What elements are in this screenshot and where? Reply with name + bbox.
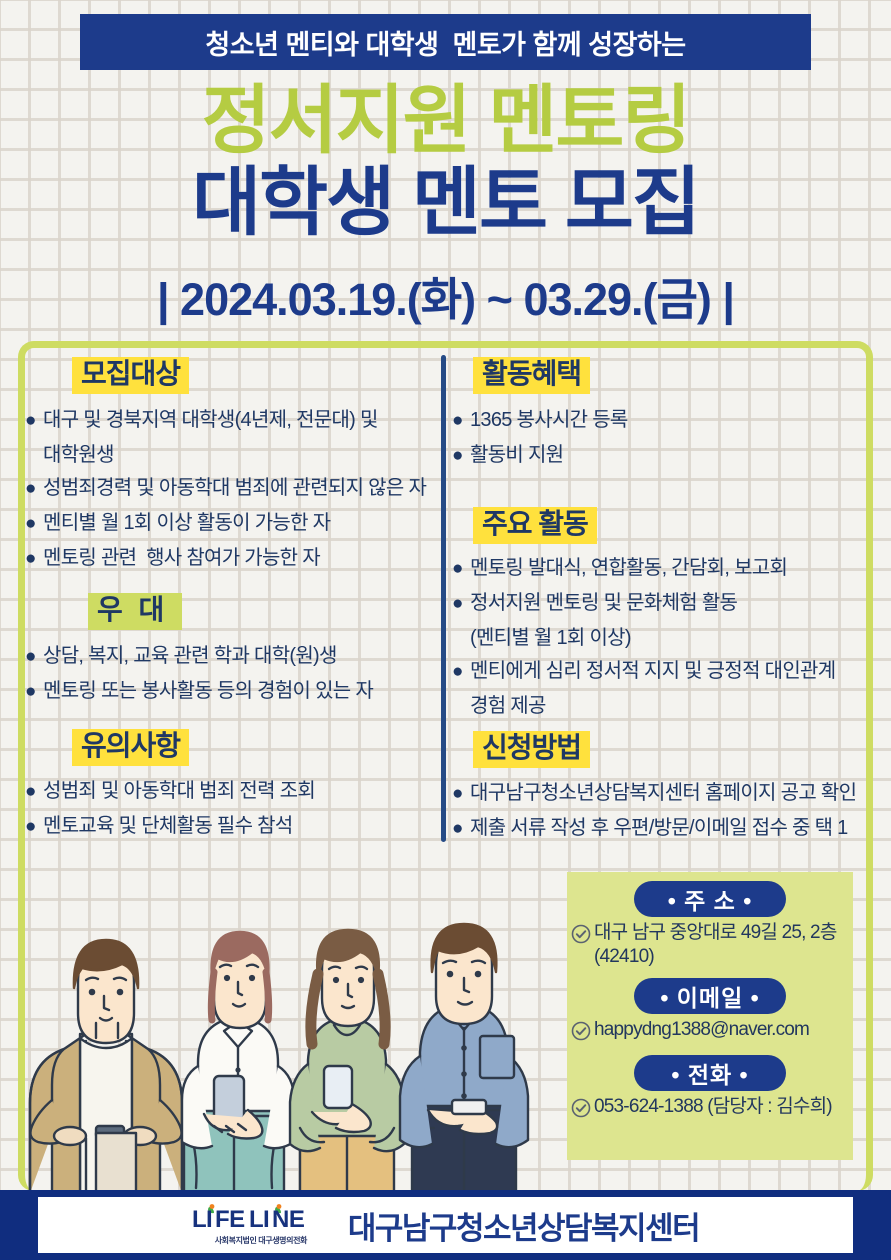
- poster-title-line2: 대학생 멘토 모집: [0, 165, 891, 240]
- list-main-activities: ● 멘토링 발대식, 연합활동, 간담회, 보고회 ● 정서지원 멘토링 및 문…: [452, 552, 882, 723]
- check-circle-icon: [571, 924, 591, 949]
- list-item: ● 멘티에게 심리 정서적 지지 및 긍정적 대인관계: [452, 655, 882, 688]
- bullet-dot: ●: [25, 775, 43, 808]
- contact-phone-row: 053-624-1388 (담당자 : 김수희): [567, 1095, 853, 1123]
- bullet-dot: ●: [452, 552, 470, 585]
- lifeline-wordmark-icon: L I FE L I NE: [192, 1204, 330, 1234]
- section-heading-benefits: 활동혜택: [473, 357, 590, 394]
- svg-text:L: L: [192, 1206, 206, 1233]
- list-how-to-apply: ● 대구남구청소년상담복지센터 홈페이지 공고 확인 ● 제출 서류 작성 후 …: [452, 777, 884, 847]
- lifeline-logo: L I FE L I NE 사회복지법인 대구생명의전화: [192, 1204, 330, 1246]
- lifeline-logo-subtitle: 사회복지법인 대구생명의전화: [215, 1235, 307, 1246]
- contact-email-row: happydng1388@naver.com: [567, 1018, 853, 1046]
- check-circle-icon: [571, 1021, 591, 1046]
- list-item: ● 1365 봉사시간 등록: [452, 404, 877, 437]
- contact-address-value: 대구 남구 중앙대로 49길 25, 2층 (42410): [594, 921, 837, 969]
- list-item-text: 멘토링 발대식, 연합활동, 간담회, 보고회: [470, 552, 787, 585]
- bullet-dot: ●: [25, 507, 43, 540]
- list-item: ● 멘토링 관련 행사 참여가 가능한 자: [25, 542, 435, 575]
- list-benefits: ● 1365 봉사시간 등록 ● 활동비 지원: [452, 404, 877, 474]
- list-item: ● 대구남구청소년상담복지센터 홈페이지 공고 확인: [452, 777, 884, 810]
- check-circle-icon: [571, 1098, 591, 1123]
- recruitment-date-range: | 2024.03.19.(화) ~ 03.29.(금) |: [0, 263, 891, 328]
- list-item-text: 상담, 복지, 교육 관련 학과 대학(원)생: [43, 640, 337, 673]
- list-item-text: 활동비 지원: [470, 439, 563, 472]
- list-item: ● 상담, 복지, 교육 관련 학과 대학(원)생: [25, 640, 435, 673]
- svg-text:I: I: [206, 1206, 213, 1233]
- list-item: ● 멘토링 또는 봉사활동 등의 경험이 있는 자: [25, 675, 435, 708]
- svg-text:I: I: [263, 1206, 270, 1233]
- section-heading-preference: 우 대: [88, 593, 182, 630]
- bullet-dot: ●: [25, 542, 43, 575]
- contact-phone-value[interactable]: 053-624-1388 (담당자 : 김수희): [594, 1095, 832, 1119]
- list-item-text: 대구 및 경북지역 대학생(4년제, 전문대) 및: [43, 404, 378, 437]
- header-banner: 청소년 멘티와 대학생 멘토가 함께 성장하는: [80, 14, 811, 70]
- bullet-dot: ●: [25, 640, 43, 673]
- people-illustration: [0, 838, 586, 1193]
- list-preference: ● 상담, 복지, 교육 관련 학과 대학(원)생 ● 멘토링 또는 봉사활동 …: [25, 640, 435, 710]
- list-item-text: 멘토링 관련 행사 참여가 가능한 자: [43, 542, 320, 575]
- list-item: ● 성범죄경력 및 아동학대 범죄에 관련되지 않은 자: [25, 472, 435, 505]
- svg-text:FE: FE: [215, 1206, 245, 1233]
- list-item-continuation: 대학원생: [25, 439, 435, 472]
- section-heading-notice: 유의사항: [72, 729, 189, 766]
- list-recruit-target: ● 대구 및 경북지역 대학생(4년제, 전문대) 및 대학원생 ● 성범죄경력…: [25, 404, 435, 577]
- list-item-text: 멘토링 또는 봉사활동 등의 경험이 있는 자: [43, 675, 373, 708]
- contact-phone-label: • 전화 •: [634, 1055, 786, 1091]
- contact-email-label: • 이메일 •: [634, 978, 786, 1014]
- section-heading-recruit-target: 모집대상: [72, 357, 189, 394]
- list-item-text: 대구남구청소년상담복지센터 홈페이지 공고 확인: [470, 777, 856, 810]
- header-banner-text: 청소년 멘티와 대학생 멘토가 함께 성장하는: [205, 23, 685, 62]
- contact-email-value[interactable]: happydng1388@naver.com: [594, 1018, 809, 1042]
- list-item: ● 활동비 지원: [452, 439, 877, 472]
- list-item: ● 성범죄 및 아동학대 범죄 전력 조회: [25, 775, 435, 808]
- section-heading-how-to-apply: 신청방법: [473, 731, 590, 768]
- list-item-text: 정서지원 멘토링 및 문화체험 활동: [470, 587, 737, 620]
- svg-text:NE: NE: [272, 1206, 305, 1233]
- contact-address-label: • 주 소 •: [634, 881, 786, 917]
- bullet-dot: ●: [25, 404, 43, 437]
- bullet-dot: ●: [452, 439, 470, 472]
- bullet-dot: ●: [452, 404, 470, 437]
- organization-name: 대구남구청소년상담복지센터: [348, 1203, 699, 1248]
- list-item-text: 성범죄경력 및 아동학대 범죄에 관련되지 않은 자: [43, 472, 426, 505]
- list-item-text: 1365 봉사시간 등록: [470, 404, 628, 437]
- contact-address-row: 대구 남구 중앙대로 49길 25, 2층 (42410): [567, 921, 853, 969]
- poster-root: 청소년 멘티와 대학생 멘토가 함께 성장하는 정서지원 멘토링 대학생 멘토 …: [0, 0, 891, 1260]
- list-item-text: 멘티별 월 1회 이상 활동이 가능한 자: [43, 507, 330, 540]
- bullet-dot: ●: [25, 675, 43, 708]
- svg-text:L: L: [249, 1206, 263, 1233]
- footer-content: L I FE L I NE 사회복지법인 대구생명의전화 대구남구청소년상담복지…: [38, 1197, 853, 1253]
- poster-title-line1: 정서지원 멘토링: [0, 83, 891, 158]
- section-heading-main-activities: 주요 활동: [473, 507, 597, 544]
- list-item: ● 대구 및 경북지역 대학생(4년제, 전문대) 및: [25, 404, 435, 437]
- bullet-dot: ●: [452, 655, 470, 688]
- column-divider: [441, 355, 446, 842]
- list-item-text: 성범죄 및 아동학대 범죄 전력 조회: [43, 775, 315, 808]
- bullet-dot: ●: [452, 777, 470, 810]
- bullet-dot: ●: [25, 472, 43, 505]
- list-item-continuation: 경험 제공: [452, 690, 882, 723]
- list-item: ● 정서지원 멘토링 및 문화체험 활동: [452, 587, 882, 620]
- list-item: ● 멘티별 월 1회 이상 활동이 가능한 자: [25, 507, 435, 540]
- list-notice: ● 성범죄 및 아동학대 범죄 전력 조회 ● 멘토교육 및 단체활동 필수 참…: [25, 775, 435, 845]
- contact-box: • 주 소 • 대구 남구 중앙대로 49길 25, 2층 (42410) • …: [567, 872, 853, 1160]
- list-item-continuation: (멘티별 월 1회 이상): [452, 622, 882, 655]
- list-item-text: 멘티에게 심리 정서적 지지 및 긍정적 대인관계: [470, 655, 835, 688]
- bullet-dot: ●: [452, 587, 470, 620]
- list-item: ● 멘토링 발대식, 연합활동, 간담회, 보고회: [452, 552, 882, 585]
- footer-bar: L I FE L I NE 사회복지법인 대구생명의전화 대구남구청소년상담복지…: [0, 1190, 891, 1260]
